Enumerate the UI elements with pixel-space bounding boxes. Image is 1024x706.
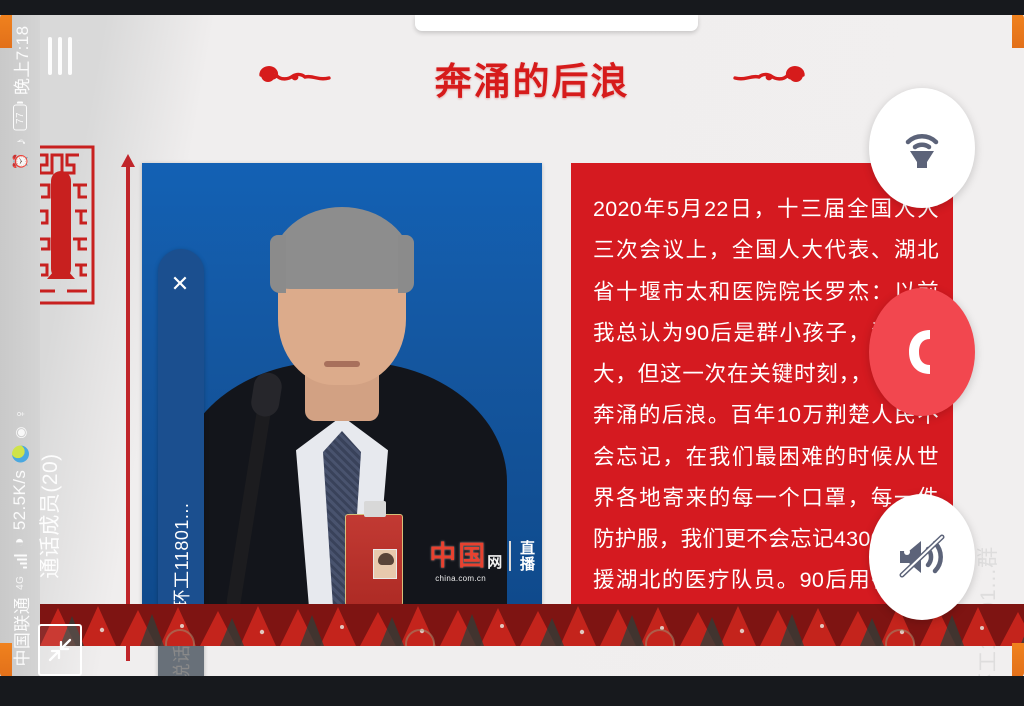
- watermark-logo: 中 国 网 china.com.cn: [429, 543, 502, 570]
- watermark-divider: [509, 541, 511, 571]
- broadcast-button[interactable]: [869, 88, 975, 208]
- speaker-muted-icon: [894, 533, 950, 581]
- badge-clip: [364, 501, 386, 517]
- exit-fullscreen-icon[interactable]: [38, 624, 82, 676]
- hamburger-menu-icon[interactable]: [41, 30, 79, 82]
- frame-corner-bottom-left: [0, 643, 12, 677]
- wifi-icon: ◑: [12, 537, 28, 547]
- qq-icon: [12, 445, 29, 462]
- frame-corner-top-left: [0, 14, 12, 48]
- frame-corner-top-right: [1012, 14, 1024, 48]
- female-icon: ♀: [12, 408, 28, 419]
- frame-corner-bottom-right: [1012, 643, 1024, 677]
- phone-icon: [899, 327, 945, 377]
- mute-bell-icon: ♪: [12, 138, 28, 145]
- alarm-icon: ⏰: [12, 152, 29, 170]
- top-tab-bar[interactable]: [415, 15, 698, 31]
- photo-delegate-badge: [345, 514, 403, 606]
- axis-arrow-vertical: [126, 165, 130, 661]
- photo-mouth: [324, 361, 360, 367]
- watermark-char-zhong: 中: [429, 543, 456, 570]
- watermark-char-wang: 网: [487, 555, 502, 570]
- badge-photo: [373, 549, 397, 579]
- close-icon[interactable]: ✕: [161, 260, 201, 306]
- hangup-call-button[interactable]: [869, 288, 975, 416]
- photo-hair: [272, 207, 412, 289]
- battery-icon: 77: [13, 102, 27, 131]
- network-type: 4G: [15, 575, 26, 589]
- shrink-arrows-icon: [47, 637, 73, 663]
- mute-speaker-button[interactable]: [869, 494, 975, 620]
- lattice-ornament: [40, 145, 95, 305]
- system-status-bar: 中国联通 4G ◑ 52.5K/s ◉ ♀ ⏰ ♪ 77 晚上7:18: [0, 15, 40, 676]
- watermark-char-guo: 国: [458, 543, 485, 570]
- letterbox-top: [0, 0, 1024, 15]
- broadcast-icon: [896, 122, 948, 174]
- battery-tip: [17, 102, 23, 104]
- battery-level: 77: [13, 105, 27, 131]
- broadcast-watermark: 中 国 网 china.com.cn 直播: [429, 540, 534, 572]
- decorative-pattern-band: [40, 604, 1024, 646]
- watermark-url: china.com.cn: [435, 574, 486, 583]
- phone-screen: 奔涌的后浪: [0, 0, 1024, 706]
- slide-title: 奔涌的后浪: [40, 51, 1024, 105]
- watermark-live-label: 直播: [518, 540, 534, 572]
- signal-bars-icon: [13, 554, 27, 569]
- network-speed: 52.5K/s: [10, 469, 30, 529]
- dnd-icon: ◉: [12, 426, 29, 439]
- letterbox-bottom: [0, 676, 1024, 706]
